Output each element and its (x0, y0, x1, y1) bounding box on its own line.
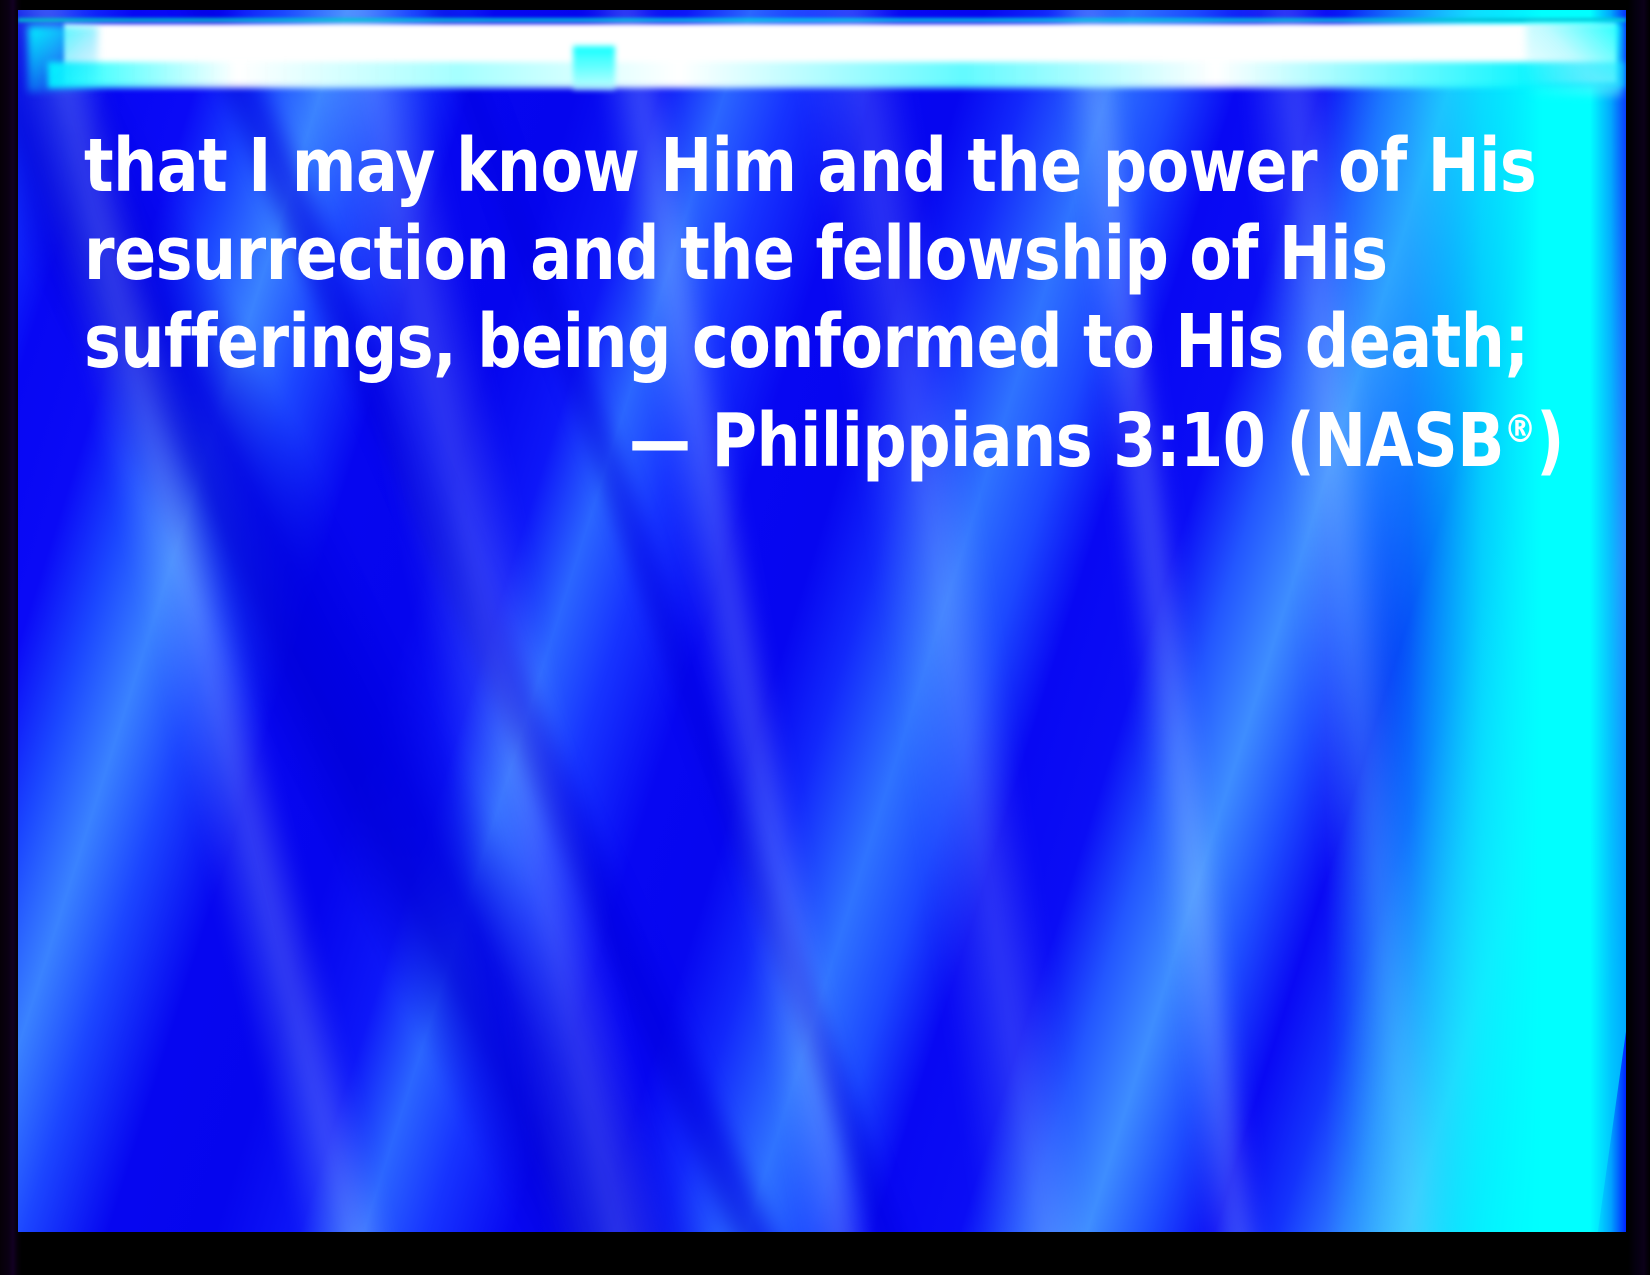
verse-text-block: that I may know Him and the power of His… (18, 122, 1626, 485)
attribution-book: Philippians (712, 398, 1093, 484)
verse-attribution: — Philippians 3:10 (NASB®) (188, 386, 1564, 485)
attribution-chapter-verse: 3:10 (1113, 398, 1265, 484)
registered-trademark-icon: ® (1504, 407, 1536, 452)
attribution-close-paren: ) (1536, 398, 1564, 484)
attribution-dash: — (629, 398, 690, 484)
verse-line-3: sufferings, being conformed to His death… (84, 298, 1460, 386)
verse-slide: that I may know Him and the power of His… (0, 0, 1650, 1275)
attribution-open-paren: ( (1286, 398, 1314, 484)
slide-background: that I may know Him and the power of His… (18, 10, 1626, 1232)
attribution-translation: NASB (1314, 398, 1504, 484)
verse-line-2: resurrection and the fellowship of His (84, 210, 1460, 298)
verse-line-1: that I may know Him and the power of His (84, 122, 1460, 210)
